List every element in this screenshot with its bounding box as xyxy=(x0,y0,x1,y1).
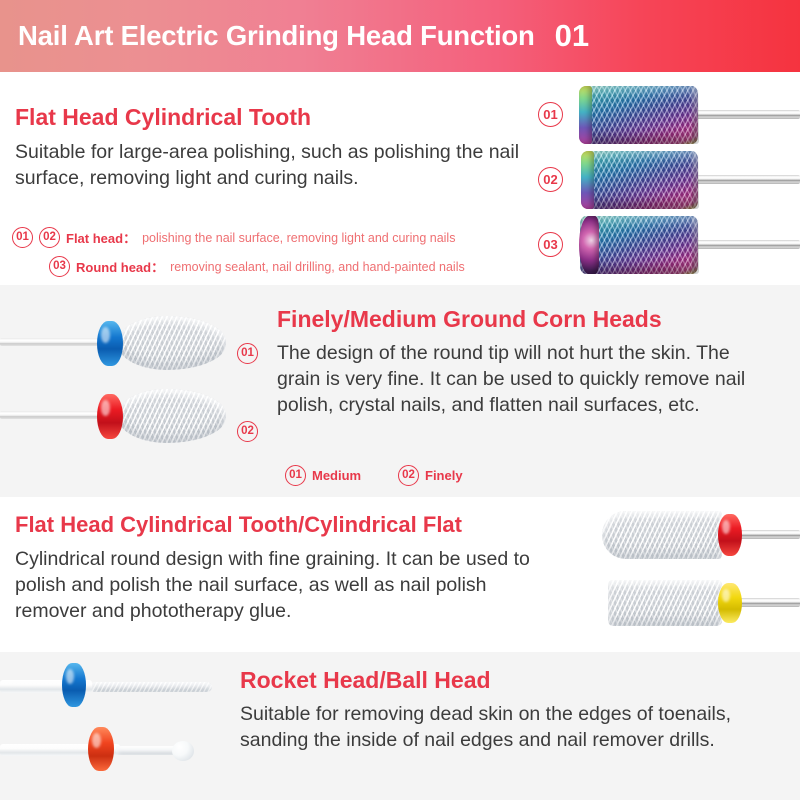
bit-body-rocket xyxy=(92,682,212,692)
badge-01: 01 xyxy=(12,227,33,248)
page-title: Nail Art Electric Grinding Head Function xyxy=(18,20,535,52)
product-image-rocket-head-blue xyxy=(0,660,222,710)
ring-highlight xyxy=(101,327,110,342)
product-image-flat-cylinder-yellow xyxy=(600,575,800,633)
ring-highlight xyxy=(722,589,730,603)
header-banner: Nail Art Electric Grinding Head Function… xyxy=(0,0,800,72)
bit-body-flame xyxy=(118,389,226,443)
section-4-body: Suitable for removing dead skin on the e… xyxy=(240,702,760,754)
ring-highlight xyxy=(92,733,101,748)
collar-ring-red xyxy=(97,394,123,439)
product-badge-03: 03 xyxy=(538,232,563,257)
legend-label-flat-head: Flat head： xyxy=(66,228,136,247)
product-image-rainbow-bit-03: 03 xyxy=(538,214,800,276)
legend-desc-flat-head: polishing the nail surface, removing lig… xyxy=(142,231,455,245)
collar-ring-yellow xyxy=(718,583,742,623)
section-2-gutter-badge-02: 02 xyxy=(237,421,258,442)
page-number-badge: 01 xyxy=(555,18,589,54)
section-1-body: Suitable for large-area polishing, such … xyxy=(15,140,525,192)
section-3-body: Cylindrical round design with fine grain… xyxy=(15,547,560,625)
collar-ring-blue xyxy=(62,663,86,707)
collar-ring-blue xyxy=(97,321,123,366)
section-4-title: Rocket Head/Ball Head xyxy=(240,668,491,693)
bit-barrel-rainbow-round xyxy=(580,216,698,274)
section-2-legend-medium: 01 Medium xyxy=(285,465,361,486)
infographic-page: Nail Art Electric Grinding Head Function… xyxy=(0,0,800,800)
section-finely-medium-ground-corn-heads: Finely/Medium Ground Corn Heads The desi… xyxy=(0,285,800,497)
legend-desc-round-head: removing sealant, nail drilling, and han… xyxy=(170,260,465,274)
legend-label-medium: Medium xyxy=(312,468,361,483)
bit-edge xyxy=(692,151,699,209)
bit-shank xyxy=(690,240,800,249)
bit-edge xyxy=(692,86,699,144)
legend-label-finely: Finely xyxy=(425,468,463,483)
section-1-legend-row-2: 03 Round head： removing sealant, nail dr… xyxy=(49,256,465,277)
badge-02: 02 xyxy=(398,465,419,486)
collar-ring-red xyxy=(718,514,742,556)
bit-body-dome xyxy=(602,511,722,559)
section-2-body: The design of the round tip will not hur… xyxy=(277,341,777,419)
product-image-dome-cylinder-red xyxy=(600,507,800,565)
bit-edge xyxy=(692,216,699,274)
product-image-rainbow-bit-02: 02 xyxy=(538,149,800,211)
badge-03: 03 xyxy=(49,256,70,277)
bit-shank xyxy=(0,411,108,419)
bit-tip xyxy=(579,86,592,144)
bit-shank xyxy=(738,530,800,539)
bit-shank xyxy=(0,338,108,346)
bit-body-flame xyxy=(118,316,226,370)
bit-body-cylinder xyxy=(608,580,722,626)
collar-ring-orange xyxy=(88,727,114,771)
bit-ball-tip xyxy=(172,741,194,761)
legend-label-round-head: Round head： xyxy=(76,257,164,276)
product-badge-02: 02 xyxy=(538,167,563,192)
product-image-ball-head-orange xyxy=(0,722,222,772)
bit-tip xyxy=(581,151,594,209)
section-2-legend-finely: 02 Finely xyxy=(398,465,463,486)
ring-highlight xyxy=(722,520,730,534)
product-image-corn-head-01 xyxy=(0,312,235,374)
product-image-rainbow-bit-01: 01 xyxy=(538,84,800,146)
ring-highlight xyxy=(101,400,110,415)
bit-round-tip xyxy=(579,216,599,274)
section-1-title: Flat Head Cylindrical Tooth xyxy=(15,105,311,130)
section-3-title: Flat Head Cylindrical Tooth/Cylindrical … xyxy=(15,513,462,537)
section-2-title: Finely/Medium Ground Corn Heads xyxy=(277,307,662,332)
section-1-legend-row-1: 01 02 Flat head： polishing the nail surf… xyxy=(12,227,455,248)
section-flat-head-cylindrical-flat: Flat Head Cylindrical Tooth/Cylindrical … xyxy=(0,497,800,652)
product-image-corn-head-02 xyxy=(0,385,235,447)
bit-shank xyxy=(690,110,800,119)
bit-shank xyxy=(690,175,800,184)
section-rocket-head-ball-head: Rocket Head/Ball Head Suitable for remov… xyxy=(0,652,800,800)
badge-01: 01 xyxy=(285,465,306,486)
section-2-gutter-badge-01: 01 xyxy=(237,343,258,364)
bit-shank xyxy=(738,598,800,607)
product-badge-01: 01 xyxy=(538,102,563,127)
section-flat-head-cylindrical-tooth: Flat Head Cylindrical Tooth Suitable for… xyxy=(0,72,800,285)
ring-highlight xyxy=(66,669,74,684)
bit-barrel-rainbow xyxy=(582,151,698,209)
badge-02: 02 xyxy=(39,227,60,248)
bit-barrel-rainbow xyxy=(580,86,698,144)
